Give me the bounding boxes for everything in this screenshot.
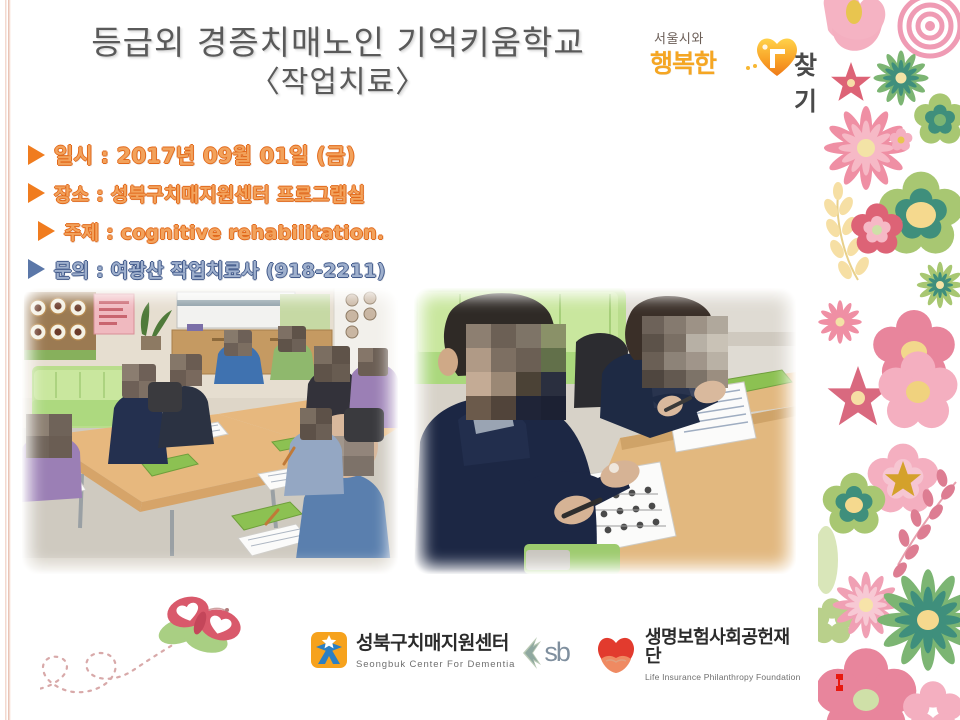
logo-seongbuk-text: 성북구치매지원센터 Seongbuk Center For Dementia [356, 634, 515, 672]
logo-seongbuk-kr: 성북구치매지원센터 [356, 632, 509, 654]
person-star-icon [310, 631, 348, 674]
info-bullet-list: 일시 : 2017년 09월 01일 (금) 장소 : 성북구치매지원센터 프로… [28, 138, 588, 290]
title-line-main: 등급외 경증치매노인 기억키움학교 [18, 22, 658, 64]
butterfly-decoration [40, 585, 320, 710]
footer-logo-bar: 성북구치매지원센터 Seongbuk Center For Dementia s… [305, 625, 805, 685]
logo-seongbuk-en: Seongbuk Center For Dementia [356, 659, 515, 670]
bullet-item-contact: 문의 : 여광산 작업치료사 (918-2211) [28, 252, 588, 286]
seoul-logo-find-text: 찾기 [794, 46, 816, 118]
bullet-item-place: 장소 : 성북구치매지원센터 프로그램실 [28, 176, 588, 210]
slide-canvas: 등급외 경증치매노인 기억키움학교 〈작업치료〉 서울시와 행복한 찾기 일시 … [0, 0, 960, 720]
bullet-item-date: 일시 : 2017년 09월 01일 (금) [28, 138, 588, 172]
sb-mark-icon: sb [521, 636, 569, 670]
triangle-bullet-icon [38, 221, 55, 241]
logo-seongbuk-center: 성북구치매지원센터 Seongbuk Center For Dementia s… [310, 631, 569, 674]
photo-two-participants [414, 288, 796, 574]
logo-life-insurance-foundation: 생명보험사회공헌재단 Life Insurance Philanthropy F… [595, 629, 805, 685]
logo-foundation-text: 생명보험사회공헌재단 Life Insurance Philanthropy F… [645, 629, 805, 685]
bullet-item-topic: 주제 : cognitive rehabilitation. [38, 214, 588, 248]
title-line-sub: 〈작업치료〉 [18, 64, 658, 102]
photo-classroom-group [22, 288, 398, 574]
bullet-text-date: 일시 : 2017년 09월 01일 (금) [54, 140, 355, 170]
red-marker-artifact [833, 672, 849, 696]
seoul-logo-main-text: 행복한 [650, 44, 716, 80]
bullet-text-place: 장소 : 성북구치매지원센터 프로그램실 [54, 180, 365, 207]
left-rule-decoration [5, 0, 11, 720]
bullet-text-contact: 문의 : 여광산 작업치료사 (918-2211) [54, 256, 386, 283]
heart-hands-icon [595, 635, 637, 680]
floral-border-decoration [818, 0, 960, 720]
triangle-bullet-icon [28, 259, 45, 279]
sb-wordmark: sb [544, 637, 569, 668]
triangle-bullet-icon [28, 183, 45, 203]
triangle-bullet-icon [28, 145, 45, 165]
bullet-text-topic: 주제 : cognitive rehabilitation. [64, 218, 384, 245]
seoul-happiness-logo: 서울시와 행복한 찾기 [648, 28, 813, 88]
logo-foundation-kr: 생명보험사회공헌재단 [645, 627, 790, 667]
logo-foundation-en: Life Insurance Philanthropy Foundation [645, 672, 801, 682]
page-title: 등급외 경증치매노인 기억키움학교 〈작업치료〉 [18, 22, 658, 103]
